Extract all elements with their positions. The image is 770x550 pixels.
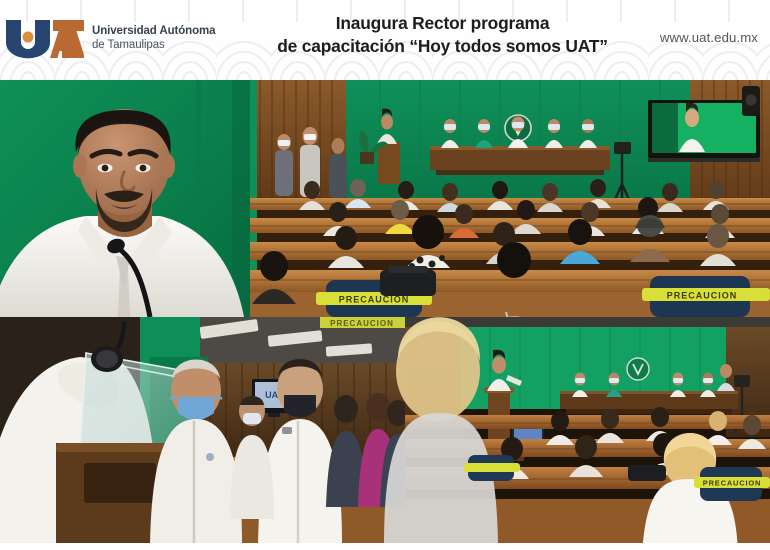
website-url[interactable]: www.uat.edu.mx (660, 30, 758, 45)
uat-logo-mark-icon (4, 17, 84, 61)
photo-rector-podium (0, 80, 250, 317)
poster-headline: Inaugura Rector programa de capacitación… (240, 12, 645, 58)
uat-news-poster: Universidad Autónoma de Tamaulipas Inaug… (0, 0, 770, 550)
headline-line-2: de capacitación “Hoy todos somos UAT” (240, 35, 645, 58)
photo-bottom-pair: UAT PRECAUCION (0, 317, 770, 543)
poster-header: Universidad Autónoma de Tamaulipas Inaug… (0, 0, 770, 80)
logo-title-line1: Universidad Autónoma (92, 25, 215, 39)
uat-logo[interactable]: Universidad Autónoma de Tamaulipas (4, 10, 219, 68)
poster-bottom-border (0, 543, 770, 550)
svg-text:PRECAUCION: PRECAUCION (703, 479, 761, 488)
photo-collage: PRECAUCION PRECAUCION (0, 80, 770, 543)
svg-text:PRECAUCION: PRECAUCION (330, 319, 394, 328)
photo-auditorium-audience: PRECAUCION PRECAUCION (250, 80, 770, 317)
svg-text:PRECAUCION: PRECAUCION (667, 291, 738, 301)
headline-line-1: Inaugura Rector programa (240, 12, 645, 35)
logo-title-line2: de Tamaulipas (92, 39, 215, 53)
